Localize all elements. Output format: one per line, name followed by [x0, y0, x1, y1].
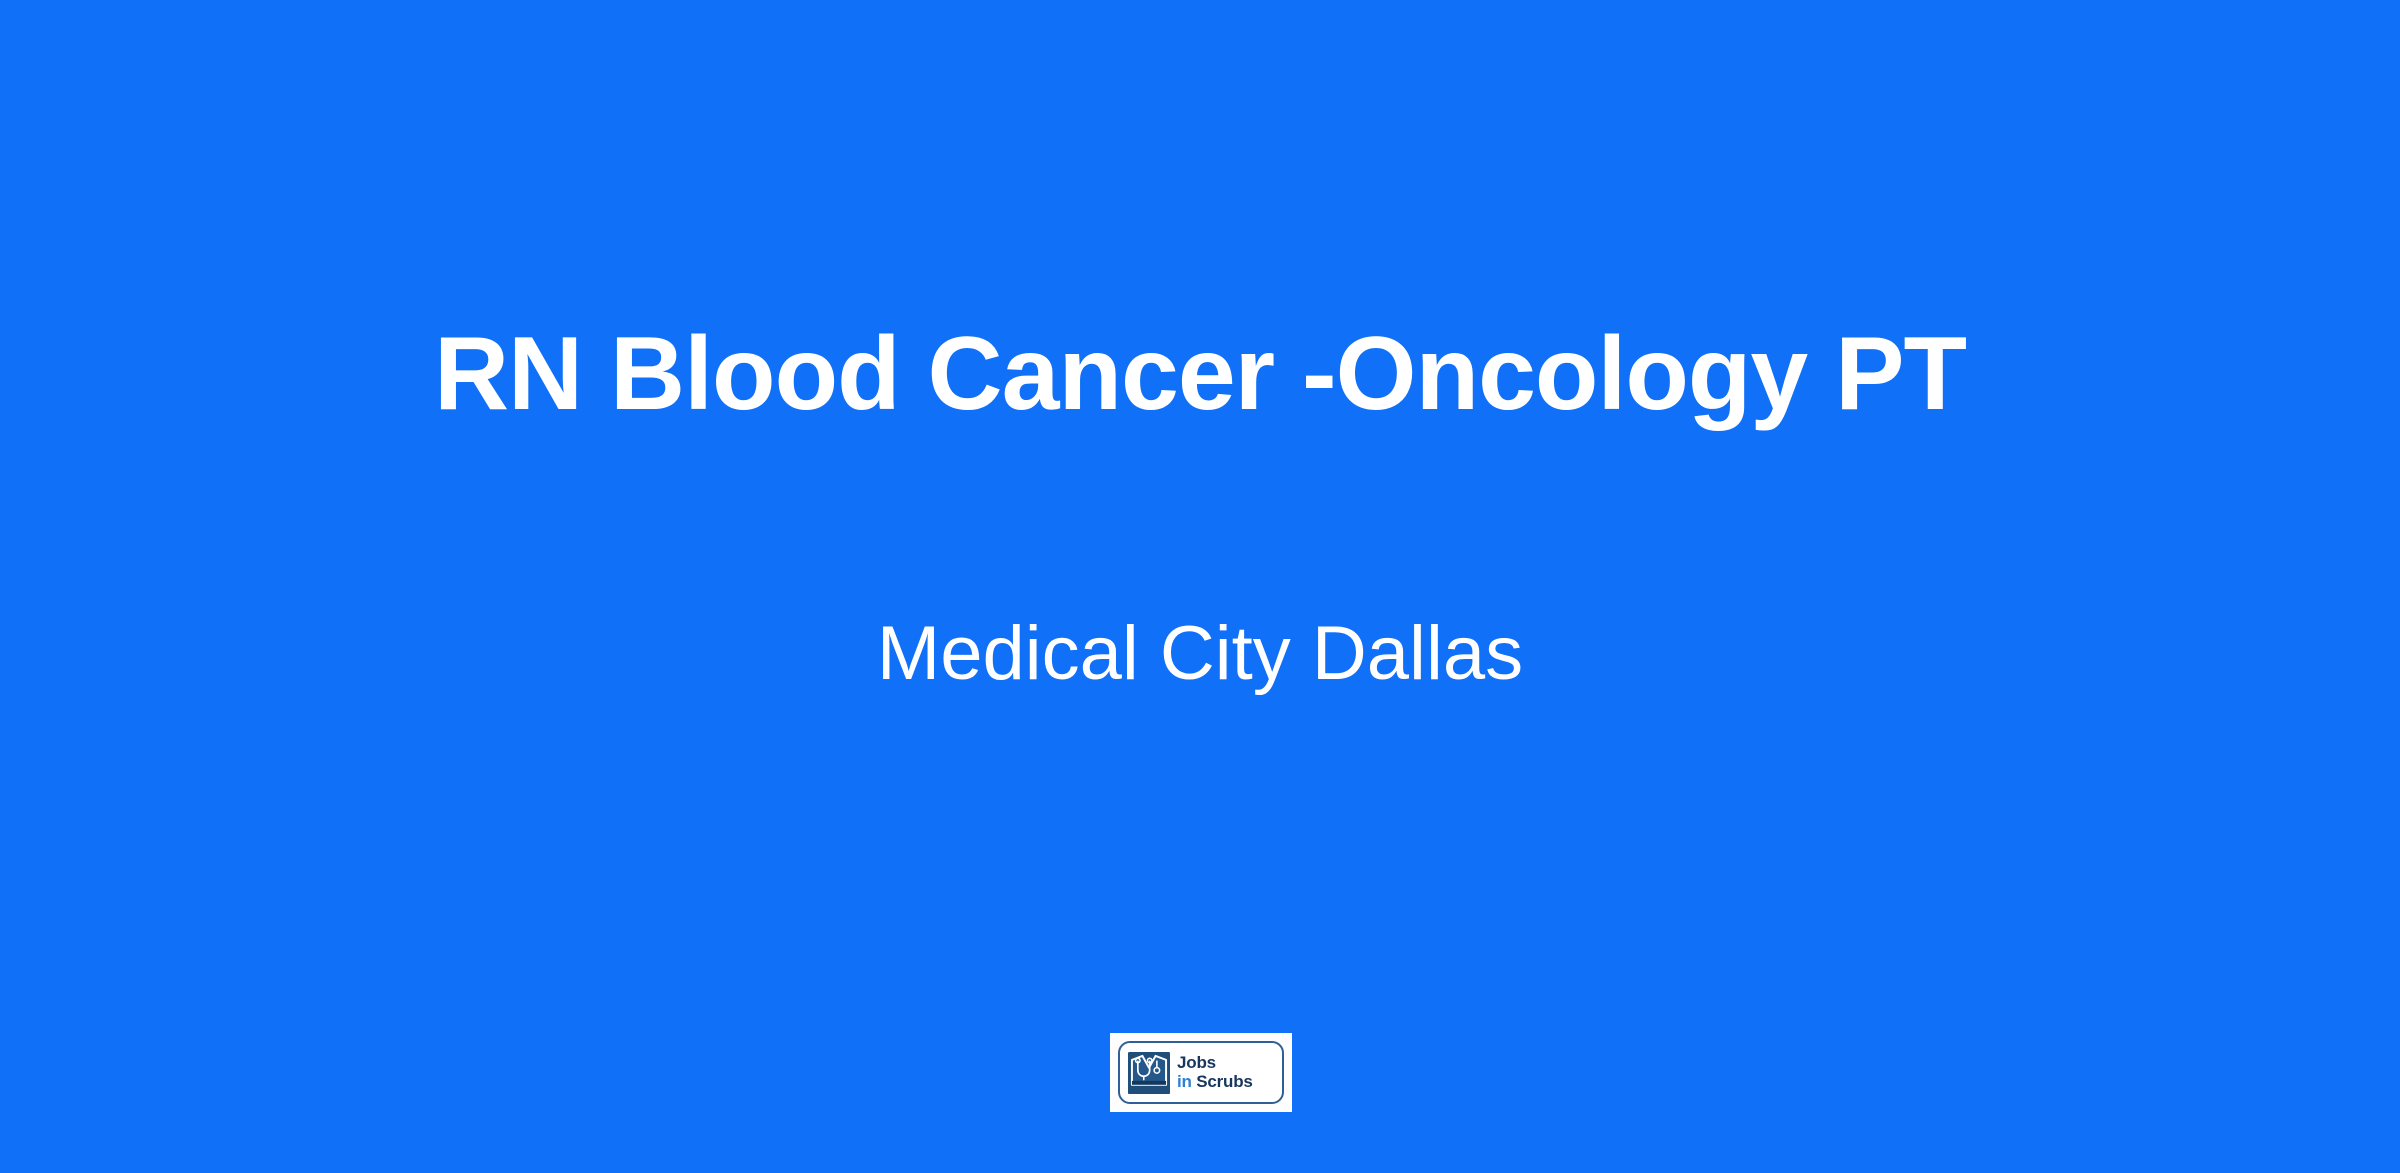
brand-wordmark-line-1: Jobs [1177, 1054, 1253, 1072]
slide-content: RN Blood Cancer -Oncology PT Medical Cit… [0, 0, 2400, 1173]
brand-logo-frame: Jobs in Scrubs [1118, 1041, 1284, 1104]
job-posting-slide: RN Blood Cancer -Oncology PT Medical Cit… [0, 0, 2400, 1173]
employer-name: Medical City Dallas [400, 612, 2000, 696]
scrubs-stethoscope-icon [1128, 1052, 1170, 1094]
brand-wordmark-in: in [1177, 1072, 1196, 1091]
brand-wordmark-scrubs: Scrubs [1196, 1072, 1252, 1091]
page-title: RN Blood Cancer -Oncology PT [420, 322, 1980, 426]
brand-wordmark-line-2: in Scrubs [1177, 1073, 1253, 1091]
brand-logo-badge[interactable]: Jobs in Scrubs [1110, 1033, 1292, 1112]
brand-wordmark: Jobs in Scrubs [1177, 1054, 1253, 1091]
